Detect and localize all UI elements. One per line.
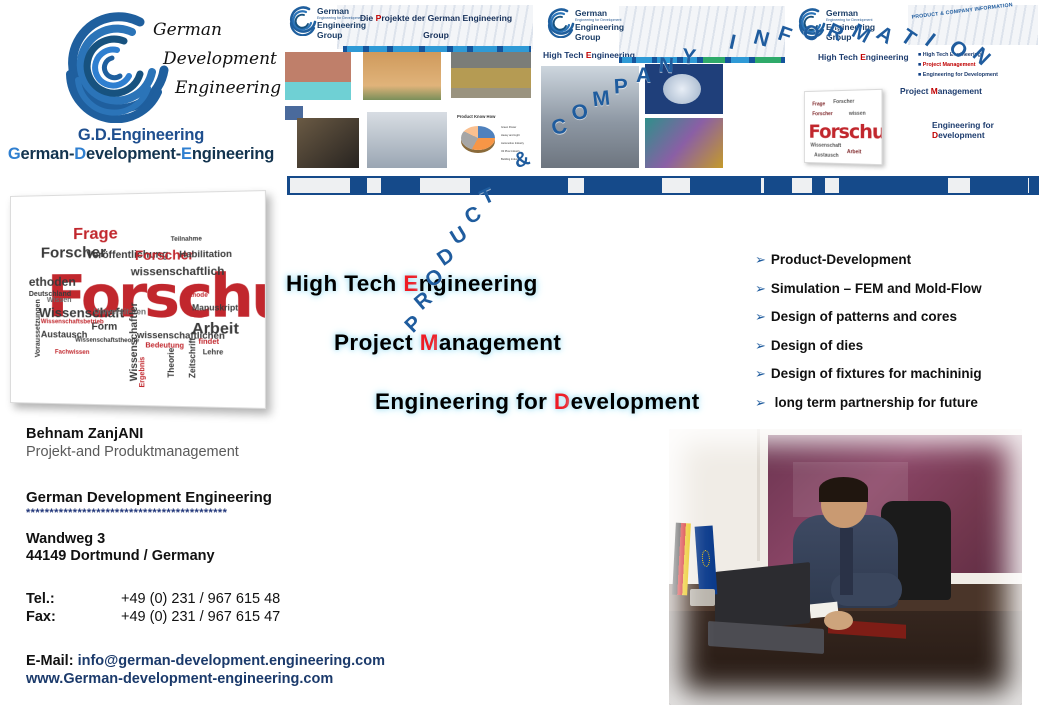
- mini-logo-2: German Engineering for Development Engin…: [545, 8, 649, 42]
- contact-street: Wandweg 3: [26, 531, 506, 547]
- heading-engineering-for-development: Engineering for Development: [375, 389, 700, 415]
- thumb3-heading-1: High Tech Engineering: [818, 52, 909, 62]
- slide-thumbnail-hightech[interactable]: German Engineering for Development Engin…: [537, 2, 785, 172]
- thumb2-photo-cad: [645, 64, 723, 114]
- bullet-item: ➢Design of dies: [755, 338, 1040, 354]
- contact-person-name: Behnam ZanjANI: [26, 426, 506, 442]
- filmstrip-bar: [287, 176, 1039, 195]
- contact-tel-row: Tel.: +49 (0) 231 / 967 615 48: [26, 591, 506, 607]
- contact-email-row: E-Mail: info@german-development.engineer…: [26, 653, 506, 669]
- thumb1-photo-loader: [451, 52, 531, 98]
- slide-thumbnail-projects[interactable]: German Engineering for Development Engin…: [285, 2, 535, 172]
- swirl-logo-icon: [287, 6, 321, 36]
- portrait-photo: [663, 423, 1028, 711]
- thumb1-photo-engineers: [367, 112, 447, 168]
- arrow-bullet-icon: ➢: [755, 309, 766, 324]
- mini-logo-text-2: German Engineering for Development Engin…: [575, 8, 647, 42]
- slide-thumbnail-strip: German Engineering for Development Engin…: [285, 0, 1040, 200]
- forschung-wordcloud-image: Forschung Frage Forscher Veröffentlichun…: [10, 190, 266, 409]
- thumb1-photo-worksite: [297, 118, 359, 168]
- portrait-photo-inner: [669, 429, 1022, 705]
- business-card-page: German Development Engineering G.D.Engin…: [0, 0, 1040, 720]
- bullet-item: ➢Design of patterns and cores: [755, 309, 1040, 325]
- logo-name-primary: G.D.Engineering: [0, 126, 282, 145]
- contact-separator: ****************************************…: [26, 507, 286, 519]
- tel-label: Tel.:: [26, 591, 121, 607]
- logo-script-text: German Development Engineering: [145, 22, 285, 112]
- arrow-bullet-icon: ➢: [755, 281, 766, 296]
- arrow-bullet-icon: ➢: [755, 338, 766, 353]
- tel-value: +49 (0) 231 / 967 615 48: [121, 591, 280, 607]
- arched-title-letter: Y: [681, 45, 698, 70]
- heading-high-tech-engineering: High Tech Engineering: [286, 271, 538, 297]
- arched-title-letter: C: [461, 202, 486, 230]
- thumb3-wordcloud: Forschung Frage Forscher Forscher wissen…: [804, 89, 883, 165]
- contact-details-block: Behnam ZanjANI Projekt-and Produktmanage…: [26, 426, 506, 687]
- thumb1-photo-apartments: [285, 52, 351, 100]
- logo-script-line-1: German: [153, 22, 285, 39]
- bullet-item: ➢Simulation – FEM and Mold-Flow: [755, 281, 1040, 297]
- thumb3-heading-3: Engineering for Development: [932, 120, 1040, 140]
- arched-title-letter: A: [636, 64, 651, 88]
- thumb2-photo-mold: [645, 118, 723, 168]
- logo-script-line-3: Engineering: [175, 80, 285, 97]
- logo-script-line-2: Development: [163, 51, 285, 68]
- contact-phone-rows: Tel.: +49 (0) 231 / 967 615 48 Fax: +49 …: [26, 591, 506, 625]
- thumb1-photo-villa: [363, 52, 441, 100]
- arrow-bullet-icon: ➢: [755, 366, 766, 381]
- company-logo-block: German Development Engineering G.D.Engin…: [0, 0, 282, 172]
- bullet-item: ➢Design of fixtures for machininig: [755, 366, 1040, 382]
- thumb1-title-line1: Die Projekte der German Engineering: [341, 13, 531, 23]
- thumb3-heading-2: Project Management: [900, 86, 982, 96]
- swirl-logo-icon: [545, 8, 579, 38]
- email-address-link[interactable]: info@german-development.engineering.com: [78, 653, 385, 669]
- arched-title-letter: U: [446, 222, 471, 250]
- arched-title-letter: N: [658, 54, 674, 79]
- contact-website-link[interactable]: www.German-development-engineering.com: [26, 671, 506, 687]
- thumb2-navbar: [619, 57, 785, 63]
- contact-company-name: German Development Engineering: [26, 489, 506, 506]
- contact-fax-row: Fax: +49 (0) 231 / 967 615 47: [26, 609, 506, 625]
- contact-person-role: Projekt-and Produktmanagement: [26, 444, 506, 460]
- arched-title-letter: M: [591, 87, 611, 113]
- heading-project-management: Project Management: [334, 330, 561, 356]
- arrow-bullet-icon: ➢: [755, 395, 766, 410]
- bullet-item: ➢ long term partnership for future: [755, 395, 1040, 411]
- product-info-bullet-list: ➢Product-Development ➢Simulation – FEM a…: [755, 252, 1040, 423]
- fax-label: Fax:: [26, 609, 121, 625]
- arched-title-letter: P: [613, 75, 628, 100]
- logo-name-secondary: German-Development-Engineering: [0, 145, 282, 164]
- arrow-bullet-icon: ➢: [755, 252, 766, 267]
- bullet-item: ➢Product-Development: [755, 252, 1040, 268]
- fax-value: +49 (0) 231 / 967 615 47: [121, 609, 280, 625]
- email-label: E-Mail:: [26, 653, 74, 669]
- contact-city: 44149 Dortmund / Germany: [26, 548, 506, 564]
- thumb1-title-line2: Group: [341, 30, 531, 40]
